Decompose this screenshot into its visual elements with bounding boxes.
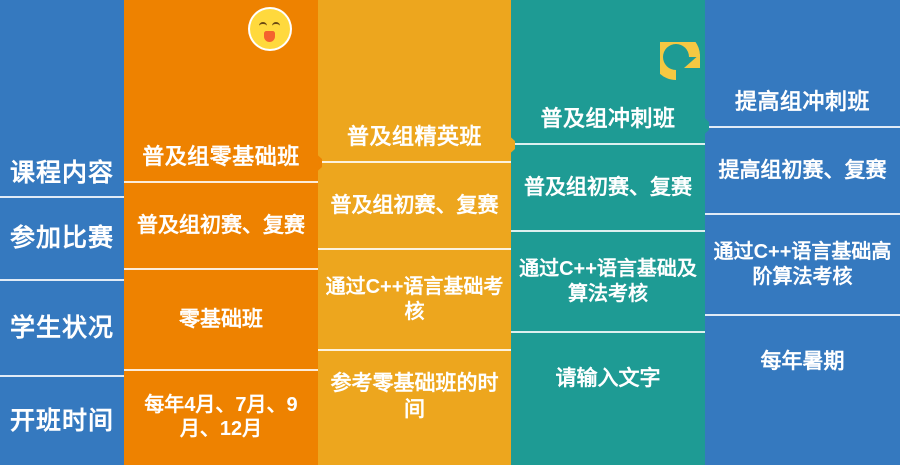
- cell-advanced-student-status: 通过C++语言基础高阶算法考核: [705, 215, 900, 316]
- cell-advanced-competition: 提高组初赛、复赛: [705, 128, 900, 215]
- row-label-course-content: 课程内容: [0, 150, 124, 198]
- table-column-beginner[interactable]: 普及组零基础班 普及组初赛、复赛 零基础班 每年4月、7月、9月、12月: [124, 0, 318, 465]
- row-label-student-status: 学生状况: [0, 281, 124, 377]
- cell-elite-competition: 普及组初赛、复赛: [318, 163, 511, 250]
- row-label-start-time: 开班时间: [0, 377, 124, 465]
- cell-beginner-student-status: 零基础班: [124, 270, 318, 371]
- cell-sprint-student-status: 通过C++语言基础及算法考核: [511, 232, 705, 333]
- connector-chevron-icon-2: [505, 132, 518, 158]
- cell-advanced-start-time: 每年暑期: [705, 316, 900, 408]
- return-arrow-icon: [660, 42, 706, 86]
- smiley-tongue: [264, 31, 275, 42]
- cell-beginner-start-time: 每年4月、7月、9月、12月: [124, 371, 318, 463]
- table-column-advanced[interactable]: 提高组冲刺班 提高组初赛、复赛 通过C++语言基础高阶算法考核 每年暑期: [705, 0, 900, 465]
- column-header-beginner: 普及组零基础班: [124, 133, 318, 183]
- cell-elite-student-status: 通过C++语言基础考核: [318, 250, 511, 351]
- column-header-sprint: 普及组冲刺班: [511, 95, 705, 145]
- smiley-tongue-icon: [250, 9, 290, 49]
- table-label-column: 课程内容 参加比赛 学生状况 开班时间: [0, 0, 124, 465]
- connector-chevron-icon-1: [312, 150, 325, 176]
- smiley-right-eye: [272, 22, 280, 29]
- table-column-elite[interactable]: 普及组精英班 普及组初赛、复赛 通过C++语言基础考核 参考零基础班的时间: [318, 0, 511, 465]
- row-label-competition: 参加比赛: [0, 198, 124, 281]
- cell-sprint-competition: 普及组初赛、复赛: [511, 145, 705, 232]
- column-header-elite: 普及组精英班: [318, 113, 511, 163]
- column-header-advanced: 提高组冲刺班: [705, 78, 900, 128]
- course-plan-table: 课程内容 参加比赛 学生状况 开班时间 普及组零基础班 普及组初赛、复赛 零基础…: [0, 0, 900, 465]
- cell-beginner-competition: 普及组初赛、复赛: [124, 183, 318, 270]
- connector-chevron-icon-3: [699, 113, 712, 139]
- smiley-left-eye: [259, 22, 267, 29]
- cell-elite-start-time: 参考零基础班的时间: [318, 351, 511, 443]
- cell-sprint-start-time: 请输入文字: [511, 333, 705, 425]
